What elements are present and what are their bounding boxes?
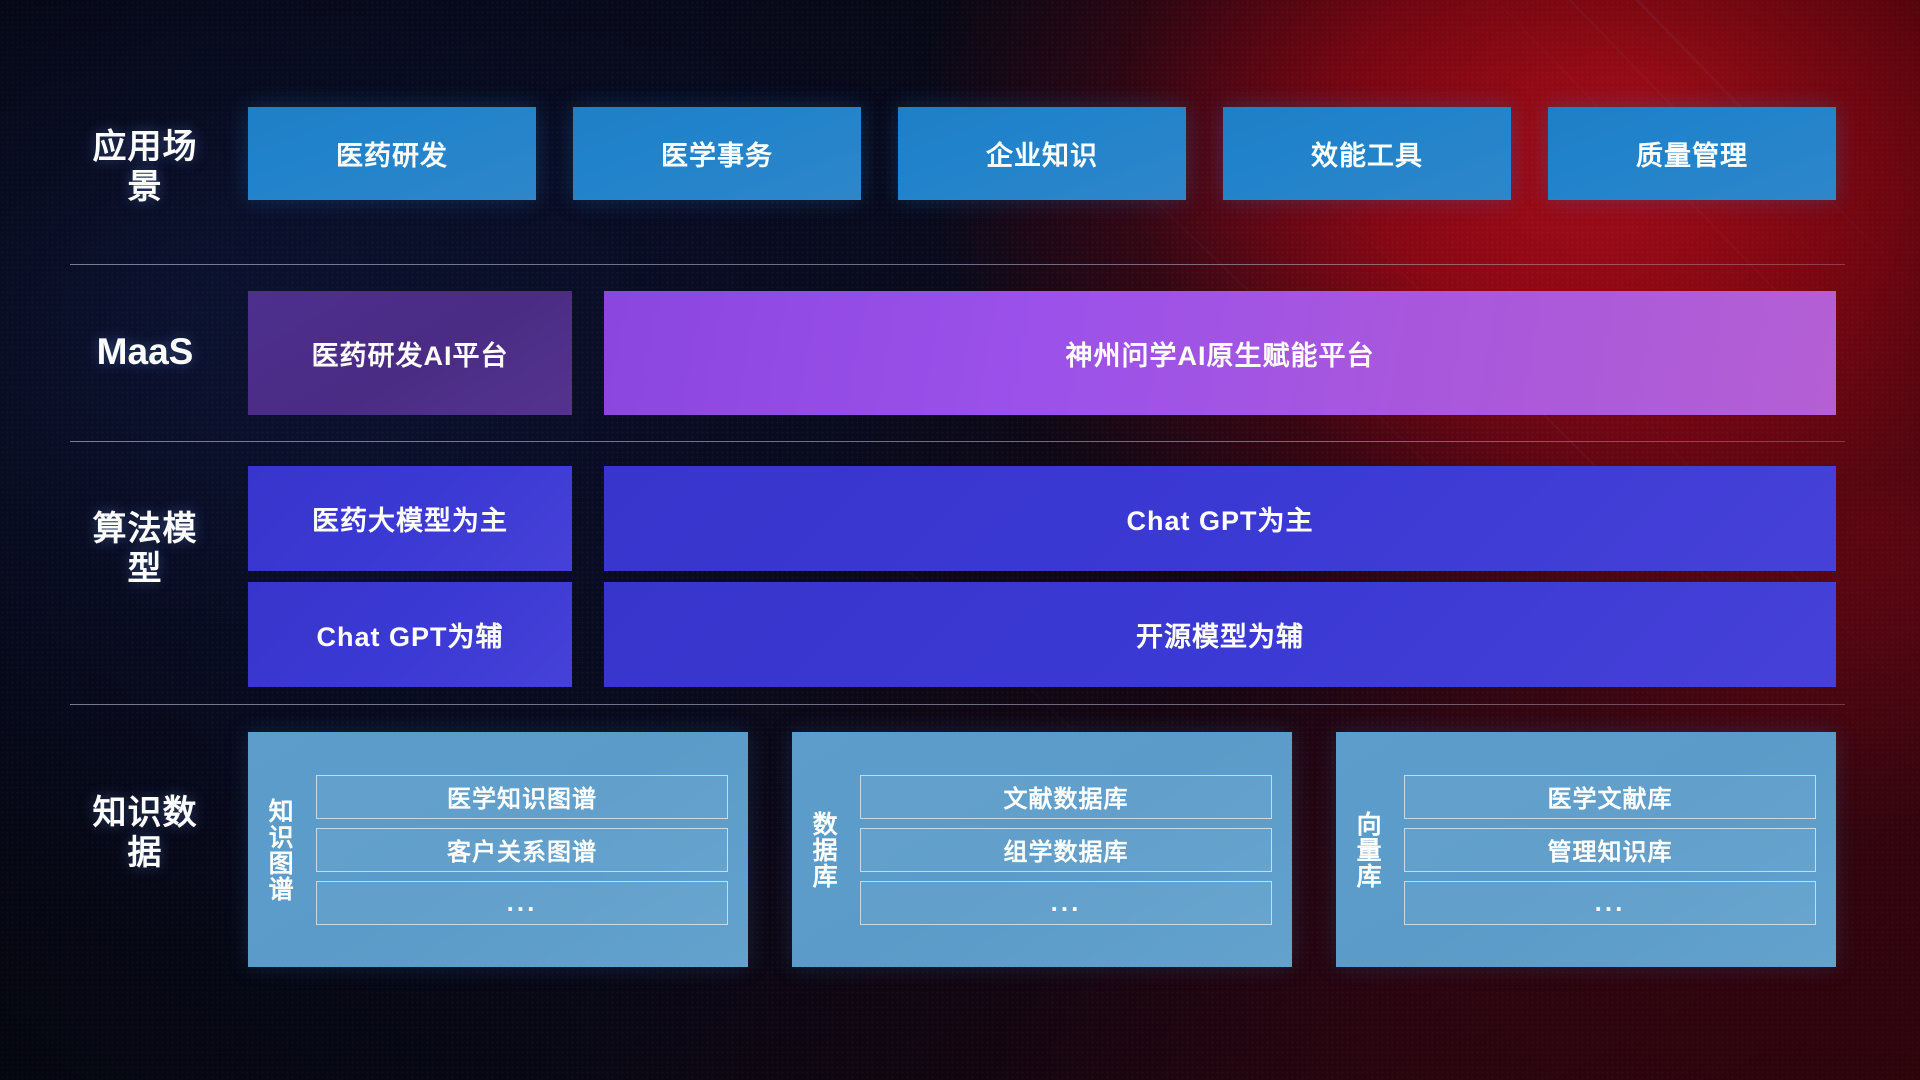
knowledge-panel-graph-title: 知识图谱 bbox=[248, 732, 310, 967]
knowledge-panel-graph-items: 医学知识图谱 客户关系图谱 ... bbox=[310, 732, 748, 967]
knowledge-item-literature-db[interactable]: 文献数据库 bbox=[860, 775, 1272, 819]
knowledge-panel-database-items: 文献数据库 组学数据库 ... bbox=[854, 732, 1292, 967]
row-label-application: 应用场景 bbox=[80, 127, 210, 207]
app-box-enterprise-knowledge[interactable]: 企业知识 bbox=[898, 107, 1186, 200]
divider-app-maas bbox=[70, 264, 1845, 265]
row-label-knowledge: 知识数据 bbox=[80, 793, 210, 873]
algo-box-chatgpt-primary[interactable]: Chat GPT为主 bbox=[604, 466, 1836, 571]
row-label-maas: MaaS bbox=[70, 330, 220, 374]
algo-box-opensource-secondary[interactable]: 开源模型为辅 bbox=[604, 582, 1836, 687]
app-box-medicine-rd[interactable]: 医药研发 bbox=[248, 107, 536, 200]
divider-maas-algo bbox=[70, 441, 1845, 442]
knowledge-panel-database[interactable]: 数据库 文献数据库 组学数据库 ... bbox=[792, 732, 1292, 967]
knowledge-panel-vector[interactable]: 向量库 医学文献库 管理知识库 ... bbox=[1336, 732, 1836, 967]
knowledge-panel-vector-title: 向量库 bbox=[1336, 732, 1398, 967]
knowledge-item-graph-more[interactable]: ... bbox=[316, 881, 728, 925]
divider-algo-knowledge bbox=[70, 704, 1845, 705]
knowledge-item-vector-more[interactable]: ... bbox=[1404, 881, 1816, 925]
knowledge-item-medical-literature-store[interactable]: 医学文献库 bbox=[1404, 775, 1816, 819]
row-label-algorithm: 算法模型 bbox=[80, 509, 210, 589]
algo-box-chatgpt-secondary[interactable]: Chat GPT为辅 bbox=[248, 582, 572, 687]
knowledge-item-management-knowledge-store[interactable]: 管理知识库 bbox=[1404, 828, 1816, 872]
algo-box-pharma-llm-primary[interactable]: 医药大模型为主 bbox=[248, 466, 572, 571]
knowledge-panel-vector-items: 医学文献库 管理知识库 ... bbox=[1398, 732, 1836, 967]
knowledge-panel-database-title: 数据库 bbox=[792, 732, 854, 967]
maas-box-shenzhou-wenxue-platform[interactable]: 神州问学AI原生赋能平台 bbox=[604, 291, 1836, 415]
knowledge-item-omics-db[interactable]: 组学数据库 bbox=[860, 828, 1272, 872]
app-box-efficiency-tools[interactable]: 效能工具 bbox=[1223, 107, 1511, 200]
maas-box-pharma-ai-platform[interactable]: 医药研发AI平台 bbox=[248, 291, 572, 415]
app-box-medical-affairs[interactable]: 医学事务 bbox=[573, 107, 861, 200]
knowledge-item-medical-graph[interactable]: 医学知识图谱 bbox=[316, 775, 728, 819]
app-box-quality-management[interactable]: 质量管理 bbox=[1548, 107, 1836, 200]
knowledge-item-customer-graph[interactable]: 客户关系图谱 bbox=[316, 828, 728, 872]
architecture-diagram: 应用场景 MaaS 算法模型 知识数据 医药研发 医学事务 企业知识 效能工具 … bbox=[0, 0, 1920, 1080]
knowledge-item-database-more[interactable]: ... bbox=[860, 881, 1272, 925]
knowledge-panel-graph[interactable]: 知识图谱 医学知识图谱 客户关系图谱 ... bbox=[248, 732, 748, 967]
